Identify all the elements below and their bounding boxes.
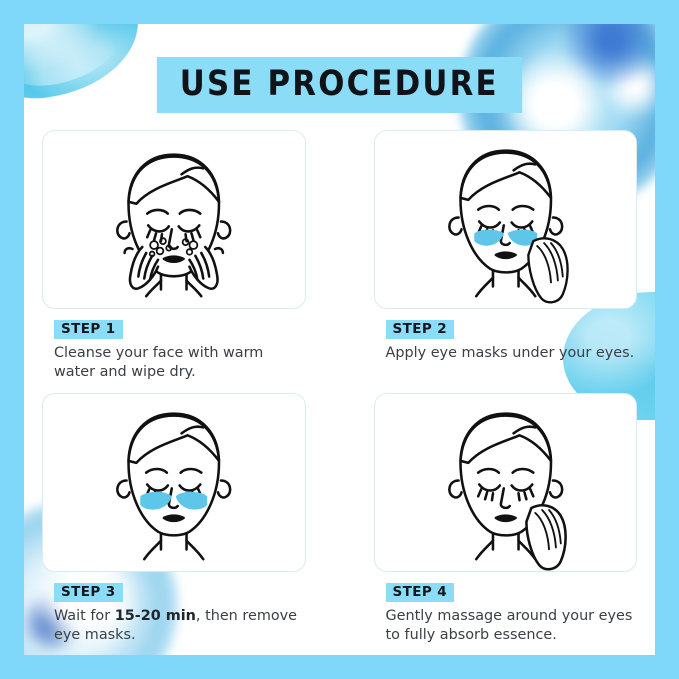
step-caption-1: STEP 1 Cleanse your face with warm water… (42, 309, 306, 383)
face-wearing-eye-patches-icon (43, 394, 305, 571)
step-tag-1: STEP 1 (54, 320, 123, 339)
step-text-2-part: Apply eye masks under your eyes. (386, 345, 635, 361)
step-caption-4: STEP 4 Gently massage around your eyes t… (374, 572, 638, 646)
step-text-3: Wait for 15-20 min, then remove eye mask… (54, 607, 306, 646)
step-illustration-3 (42, 393, 306, 572)
step-caption-2: STEP 2 Apply eye masks under your eyes. (374, 309, 638, 363)
page-title-text: USE PROCEDURE (157, 57, 522, 113)
face-washing-with-bubbles-icon (43, 131, 305, 308)
step-tag-2: STEP 2 (386, 320, 455, 339)
step-tag-4: STEP 4 (386, 583, 455, 602)
step-illustration-2 (374, 130, 638, 309)
steps-grid: STEP 1 Cleanse your face with warm water… (42, 130, 637, 645)
step-text-3-prefix: Wait for (54, 608, 115, 624)
face-applying-eye-patches-icon (375, 131, 637, 308)
step-text-4: Gently massage around your eyes to fully… (386, 607, 638, 646)
step-illustration-4 (374, 393, 638, 572)
poster-inner: USE PROCEDURE (24, 24, 655, 655)
step-card-2: STEP 2 Apply eye masks under your eyes. (374, 130, 638, 383)
page-title: USE PROCEDURE (24, 57, 655, 113)
step-text-1-part: Cleanse your face with warm water and wi… (54, 345, 263, 380)
step-caption-3: STEP 3 Wait for 15-20 min, then remove e… (42, 572, 306, 646)
step-text-4-part: Gently massage around your eyes to fully… (386, 608, 633, 643)
face-massaging-cheek-icon (375, 394, 637, 571)
step-card-3: STEP 3 Wait for 15-20 min, then remove e… (42, 393, 306, 646)
step-text-1: Cleanse your face with warm water and wi… (54, 344, 306, 383)
step-text-3-bold: 15-20 min (115, 608, 196, 624)
step-card-1: STEP 1 Cleanse your face with warm water… (42, 130, 306, 383)
step-card-4: STEP 4 Gently massage around your eyes t… (374, 393, 638, 646)
step-tag-3: STEP 3 (54, 583, 123, 602)
step-text-2: Apply eye masks under your eyes. (386, 344, 638, 363)
step-illustration-1 (42, 130, 306, 309)
poster: USE PROCEDURE (0, 0, 679, 679)
